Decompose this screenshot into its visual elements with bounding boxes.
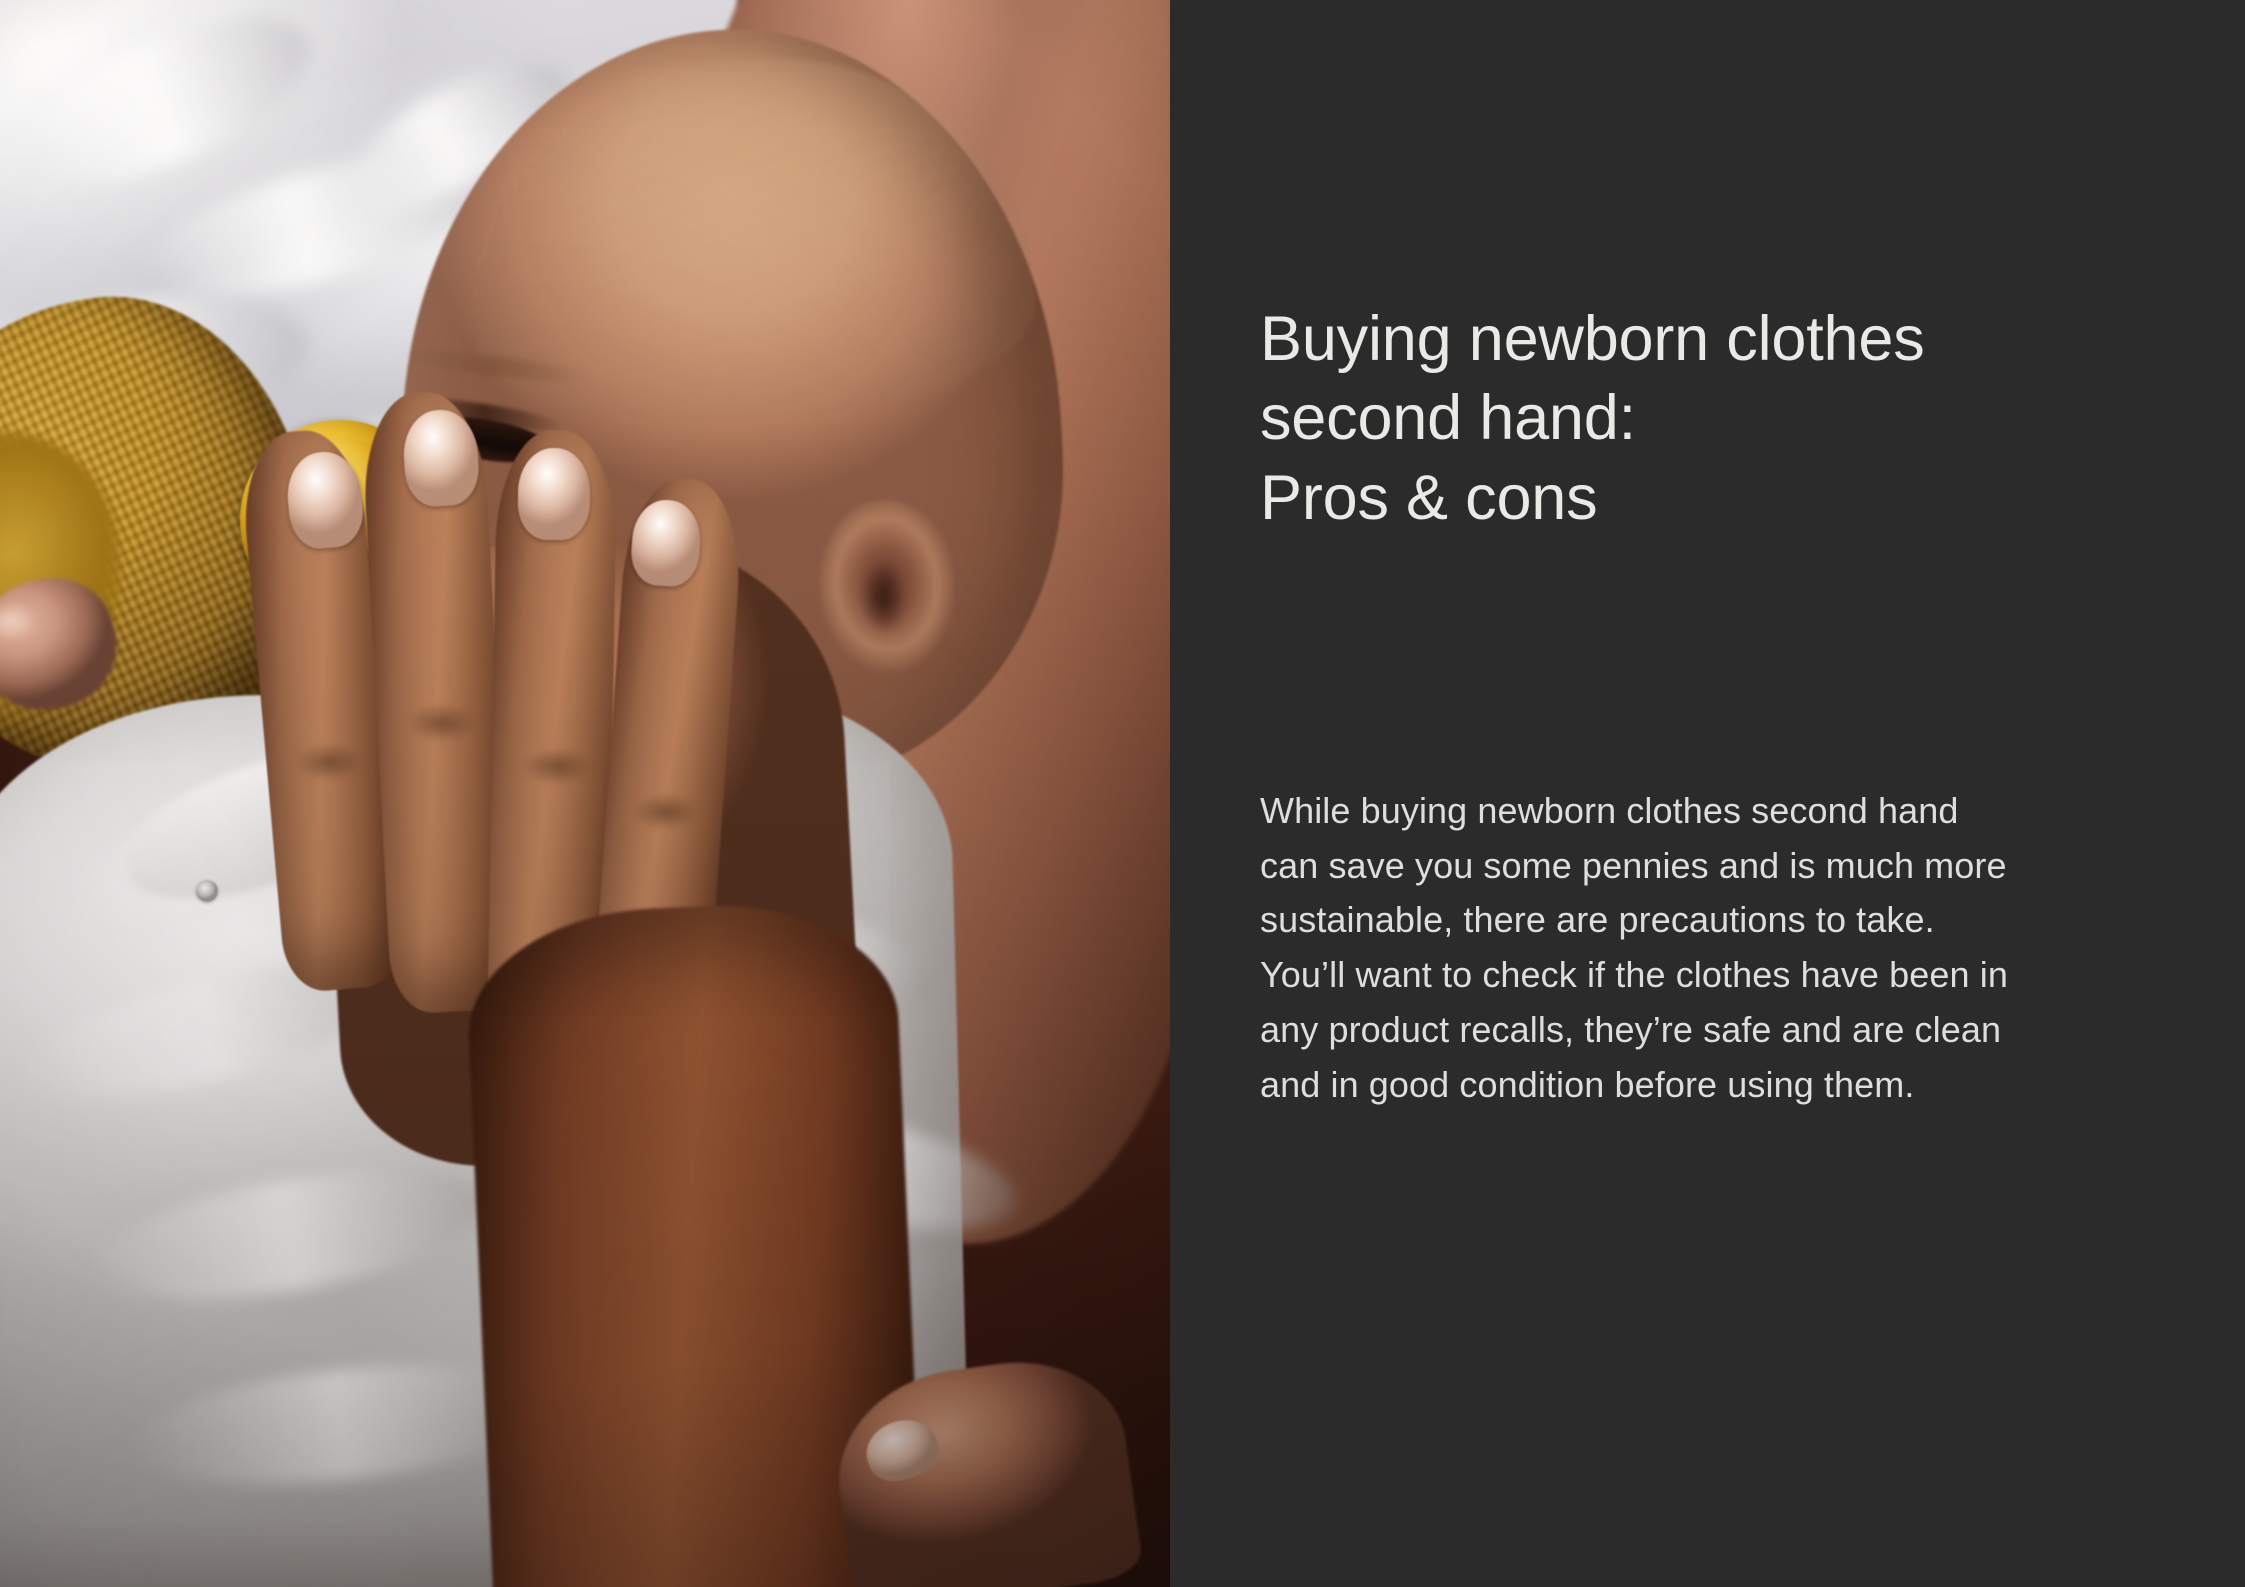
- onesie-snap-button: [196, 880, 218, 902]
- knuckle: [398, 700, 490, 758]
- body-line-4: You’ll want to check if the clothes have…: [1260, 948, 2110, 1003]
- title-line-3: Pros & cons: [1260, 459, 2130, 538]
- body-line-6: and in good condition before using them.: [1260, 1058, 2110, 1113]
- photo-stage: [0, 0, 1170, 1587]
- knuckle: [514, 744, 604, 800]
- body-line-5: any product recalls, they’re safe and ar…: [1260, 1003, 2110, 1058]
- title-line-2: second hand:: [1260, 379, 2130, 458]
- page-title: Buying newborn clothes second hand: Pros…: [1260, 300, 2130, 538]
- knuckle: [286, 740, 376, 796]
- body-line-3: sustainable, there are precautions to ta…: [1260, 893, 2110, 948]
- content-panel: Buying newborn clothes second hand: Pros…: [1170, 0, 2245, 1587]
- title-line-1: Buying newborn clothes: [1260, 300, 2130, 379]
- slide: Buying newborn clothes second hand: Pros…: [0, 0, 2245, 1587]
- body-line-1: While buying newborn clothes second hand: [1260, 784, 2110, 839]
- body-paragraph: While buying newborn clothes second hand…: [1260, 784, 2110, 1112]
- fingernail: [517, 447, 591, 540]
- knuckle: [624, 790, 710, 844]
- hero-photo: [0, 0, 1170, 1587]
- body-line-2: can save you some pennies and is much mo…: [1260, 839, 2110, 894]
